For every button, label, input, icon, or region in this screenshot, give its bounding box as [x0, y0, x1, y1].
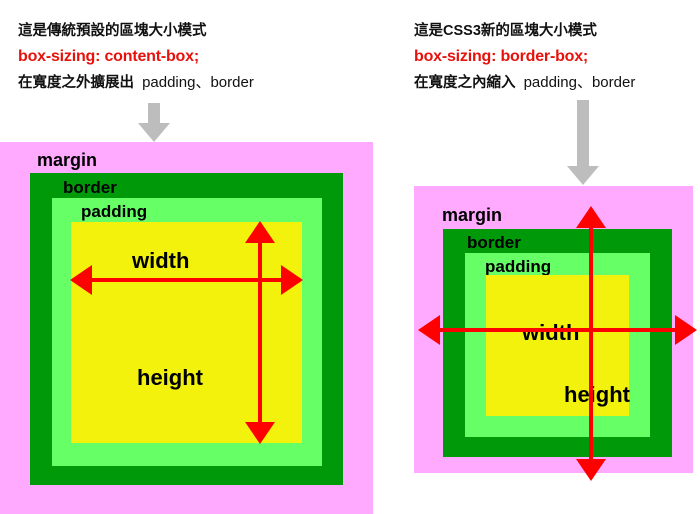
arrow-head — [567, 166, 599, 185]
caption-left-line3: 在寬度之外擴展出 padding、border — [18, 70, 254, 96]
arrow-shaft — [577, 100, 589, 167]
right-height-arrow-head-top — [576, 206, 606, 228]
right-padding-label: padding — [485, 258, 551, 275]
caption-left-line1: 這是傳統預設的區塊大小模式 — [18, 18, 254, 44]
right-border-box: border padding width height — [443, 229, 672, 457]
left-content-box: width height — [71, 222, 302, 443]
arrow-shaft — [148, 103, 160, 124]
caption-right-code: box-sizing: border-box; — [414, 44, 635, 70]
left-margin-label: margin — [37, 151, 97, 169]
left-border-label: border — [63, 179, 117, 196]
arrow-head — [138, 123, 170, 142]
left-width-arrow-head-right — [281, 265, 303, 295]
caption-left-code: box-sizing: content-box; — [18, 44, 254, 70]
right-margin-label: margin — [442, 206, 502, 224]
right-content-box: width height — [486, 275, 629, 416]
left-width-arrow-head-left — [70, 265, 92, 295]
right-width-arrow-head-left — [418, 315, 440, 345]
caption-right-line3-mono: padding、border — [524, 74, 636, 91]
caption-left-line3-mono: padding、border — [142, 74, 254, 91]
left-padding-box: padding width height — [52, 198, 322, 466]
left-height-arrow-head-bottom — [245, 422, 275, 444]
diagram-canvas: 這是傳統預設的區塊大小模式 box-sizing: content-box; 在… — [0, 0, 700, 514]
grey-down-arrow-left — [138, 103, 170, 142]
caption-left-line3-prefix: 在寬度之外擴展出 — [18, 75, 134, 91]
left-height-arrow-head-top — [245, 221, 275, 243]
right-width-arrow-line — [429, 328, 686, 332]
left-height-label: height — [137, 367, 203, 389]
grey-down-arrow-right — [567, 100, 599, 186]
left-margin-box: margin border padding width height — [0, 142, 373, 514]
caption-right: 這是CSS3新的區塊大小模式 box-sizing: border-box; 在… — [414, 18, 635, 96]
left-padding-label: padding — [81, 203, 147, 220]
right-width-arrow-head-right — [675, 315, 697, 345]
right-height-label: height — [564, 384, 630, 406]
caption-right-line1: 這是CSS3新的區塊大小模式 — [414, 18, 635, 44]
right-border-label: border — [467, 234, 521, 251]
left-border-box: border padding width height — [30, 173, 343, 485]
right-margin-box: margin border padding width height — [414, 186, 693, 473]
right-height-arrow-line — [589, 217, 593, 470]
right-padding-box: padding width height — [465, 253, 650, 437]
caption-left: 這是傳統預設的區塊大小模式 box-sizing: content-box; 在… — [18, 18, 254, 96]
caption-right-line3: 在寬度之內縮入 padding、border — [414, 70, 635, 96]
right-width-label: width — [522, 322, 579, 344]
left-width-label: width — [132, 250, 189, 272]
caption-right-line3-prefix: 在寬度之內縮入 — [414, 75, 516, 91]
right-height-arrow-head-bottom — [576, 459, 606, 481]
left-height-arrow-line — [258, 232, 262, 433]
